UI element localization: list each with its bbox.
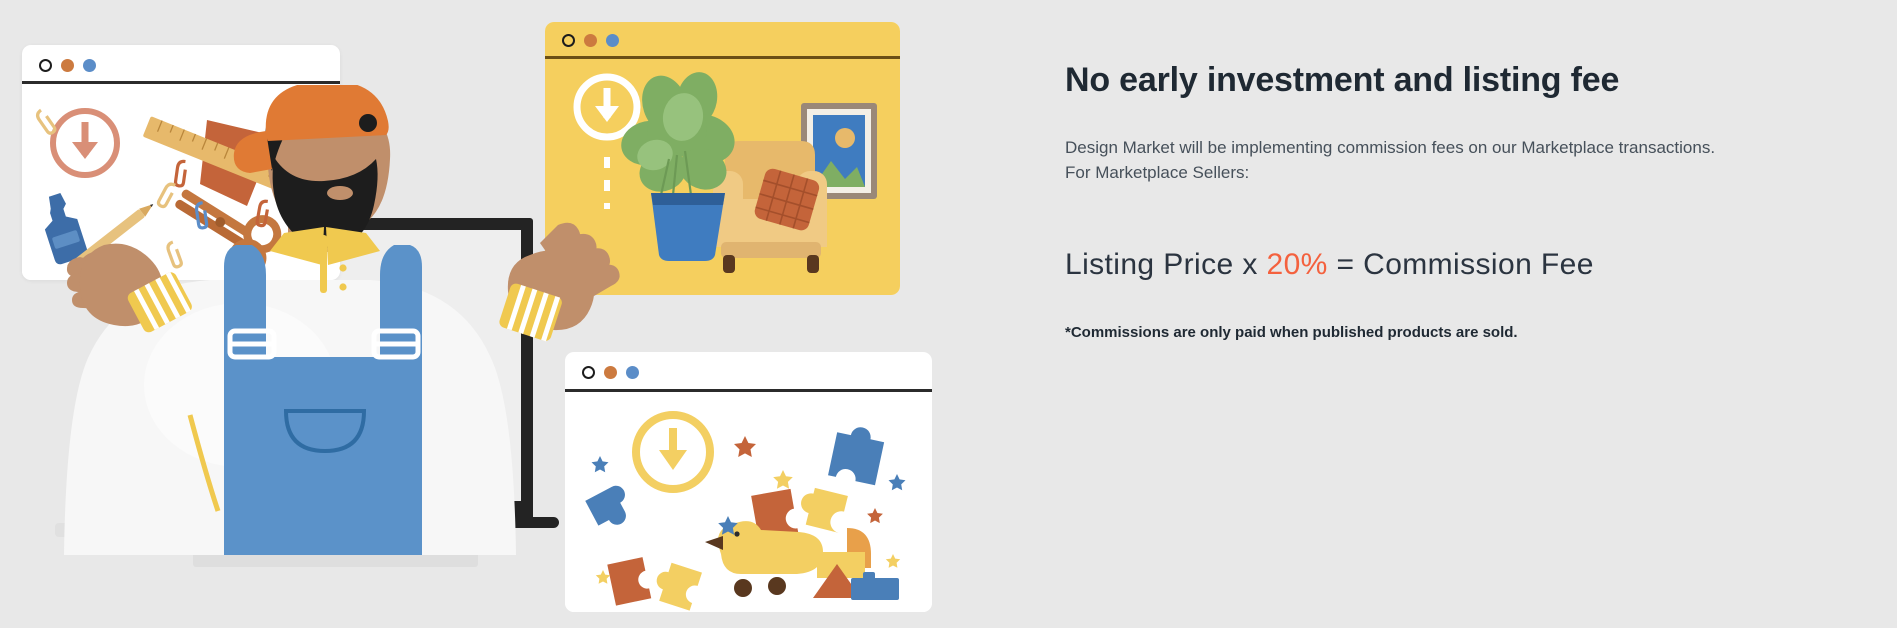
window-divider xyxy=(565,389,932,392)
window-dots xyxy=(39,59,96,72)
building-blocks xyxy=(813,528,899,600)
window-divider xyxy=(545,56,900,59)
page-title: No early investment and listing fee xyxy=(1065,60,1825,101)
formula-percent: 20% xyxy=(1266,248,1327,281)
window-dot-ring-icon xyxy=(39,59,52,72)
window-dots xyxy=(582,366,639,379)
window-dot-orange-icon xyxy=(604,366,617,379)
seller-character xyxy=(60,85,700,555)
page-root: No early investment and listing fee Desi… xyxy=(0,0,1897,628)
window-dots xyxy=(562,34,619,47)
window-dot-blue-icon xyxy=(626,366,639,379)
window-dot-ring-icon xyxy=(582,366,595,379)
head xyxy=(234,85,390,248)
body-paragraph: Design Market will be implementing commi… xyxy=(1065,135,1825,186)
right-hand xyxy=(498,223,620,343)
body-line-1: Design Market will be implementing commi… xyxy=(1065,138,1715,157)
formula-suffix: = Commission Fee xyxy=(1328,248,1594,281)
cap-button xyxy=(359,114,377,132)
body-line-2: For Marketplace Sellers: xyxy=(1065,163,1249,182)
window-dot-orange-icon xyxy=(584,34,597,47)
commission-note: *Commissions are only paid when publishe… xyxy=(1065,324,1825,341)
formula-prefix: Listing Price x xyxy=(1065,248,1266,281)
commission-formula: Listing Price x 20% = Commission Fee xyxy=(1065,248,1825,282)
armchair xyxy=(713,141,827,273)
copy-block: No early investment and listing fee Desi… xyxy=(1065,60,1825,341)
window-dot-orange-icon xyxy=(61,59,74,72)
window-dot-ring-icon xyxy=(562,34,575,47)
window-dot-blue-icon xyxy=(83,59,96,72)
hero-illustration xyxy=(0,0,960,628)
window-dot-blue-icon xyxy=(606,34,619,47)
